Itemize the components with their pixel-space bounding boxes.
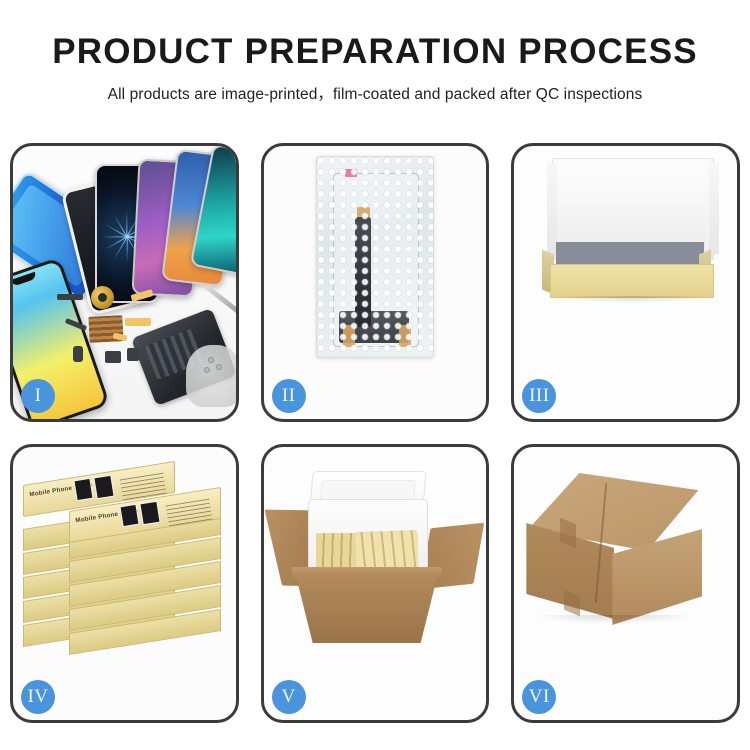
- page-title: PRODUCT PREPARATION PROCESS: [0, 34, 750, 69]
- spare-part-camera: [127, 348, 139, 361]
- bubble-wrap-bag: [316, 156, 434, 358]
- product-preparation-infographic: PRODUCT PREPARATION PROCESS All products…: [0, 0, 750, 750]
- step-panel-6[interactable]: VI: [511, 444, 740, 723]
- spare-part-speaker: [105, 351, 121, 363]
- header: PRODUCT PREPARATION PROCESS All products…: [0, 0, 750, 104]
- step-panel-4[interactable]: Mobile Phone Spare Parts Mobile Phone Sp…: [10, 444, 239, 723]
- screw-1: [209, 358, 213, 362]
- box-shadow: [554, 296, 710, 303]
- box-art-screen-right-1: [119, 504, 139, 527]
- retail-box-stack: Mobile Phone Spare Parts Mobile Phone Sp…: [17, 471, 235, 651]
- gold-coil-component: [91, 286, 114, 309]
- step-panel-5[interactable]: V: [261, 444, 490, 723]
- box-art-screen-left-2: [93, 475, 114, 500]
- box-art-screen-left-1: [73, 478, 93, 501]
- screw-2: [217, 365, 221, 369]
- step-3-image: [514, 146, 737, 419]
- carton-shadow: [532, 615, 698, 624]
- carton-front-wall: [296, 575, 438, 643]
- spare-part-module: [73, 346, 83, 362]
- step-2-image: [264, 146, 487, 419]
- step-panel-2[interactable]: II: [261, 143, 490, 422]
- step-4-image: Mobile Phone Spare Parts Mobile Phone Sp…: [13, 447, 236, 720]
- bubble-texture: [317, 157, 433, 357]
- step-5-image: [264, 447, 487, 720]
- process-steps-grid: I II: [10, 143, 740, 723]
- flex-cable-gold-2: [125, 318, 151, 326]
- screw-3: [205, 368, 209, 372]
- page-subtitle: All products are image-printed，film-coat…: [0, 82, 750, 104]
- step-badge-5: V: [272, 680, 306, 714]
- step-badge-2: II: [272, 379, 306, 413]
- step-6-image: [514, 447, 737, 720]
- technician-hand: [186, 345, 236, 407]
- box-art-screen-right-2: [139, 501, 160, 526]
- screen-burst-graphic: [127, 236, 128, 237]
- spare-part-bar: [57, 294, 83, 300]
- step-badge-1: I: [21, 379, 55, 413]
- step-1-image: [13, 146, 236, 419]
- step-panel-3[interactable]: III: [511, 143, 740, 422]
- box-front-kraft: [550, 264, 714, 298]
- step-panel-1[interactable]: I: [10, 143, 239, 422]
- step-badge-4: IV: [21, 680, 55, 714]
